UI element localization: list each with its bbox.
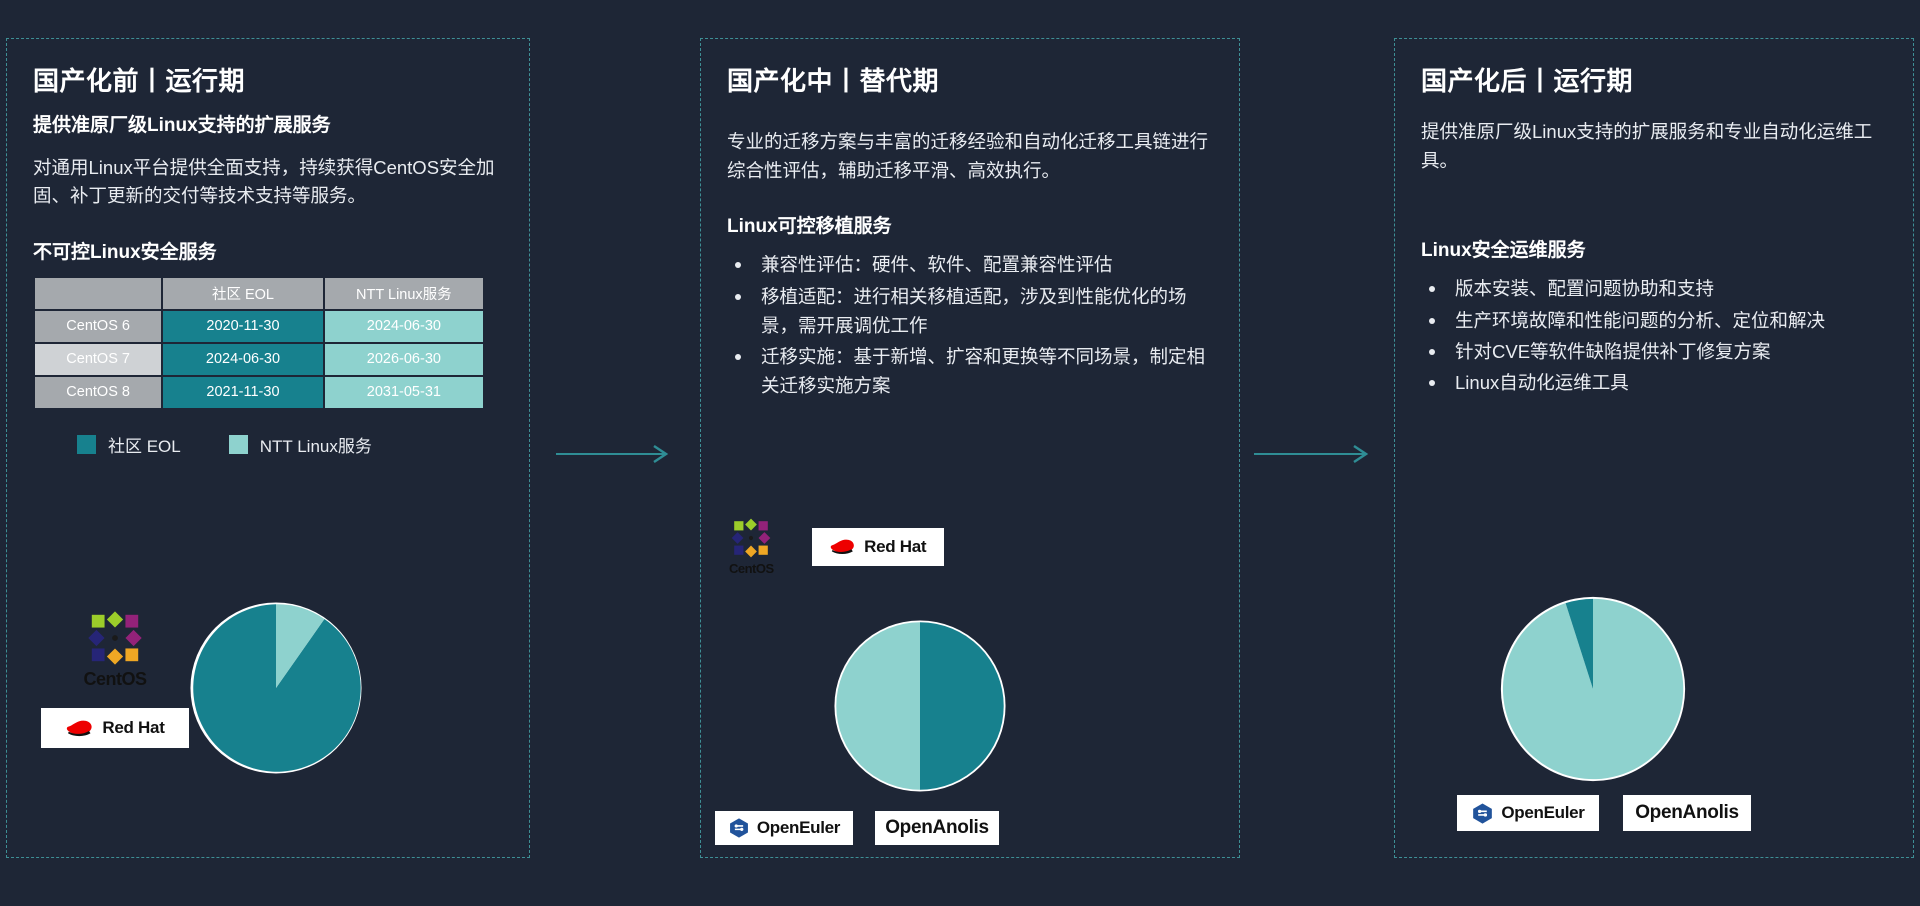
centos-mark-icon bbox=[730, 517, 772, 559]
list-item: 迁移实施：基于新增、扩容和更换等不同场景，制定相关迁移实施方案 bbox=[727, 342, 1213, 400]
table-cell-os: CentOS 6 bbox=[35, 311, 161, 342]
table-row: CentOS 7 2024-06-30 2026-06-30 bbox=[35, 344, 483, 375]
logo-group-after: OpenEuler OpenAnolis bbox=[1457, 795, 1751, 831]
pie-chart-after bbox=[1495, 591, 1691, 787]
openeuler-mark-icon bbox=[728, 817, 750, 839]
table-row: CentOS 6 2020-11-30 2024-06-30 bbox=[35, 311, 483, 342]
section-heading: 不可控Linux安全服务 bbox=[33, 237, 503, 264]
flow-arrow-1 bbox=[556, 442, 676, 466]
pie-slice-ntt bbox=[1503, 599, 1683, 779]
stage-panel-before: 国产化前丨运行期 提供准原厂级Linux支持的扩展服务 对通用Linux平台提供… bbox=[6, 38, 530, 858]
table-cell-ntt: 2026-06-30 bbox=[325, 344, 483, 375]
service-bullet-list: 版本安装、配置问题协助和支持 生产环境故障和性能问题的分析、定位和解决 针对CV… bbox=[1421, 274, 1887, 397]
legend-item-ntt: NTT Linux服务 bbox=[229, 432, 372, 457]
table-row: CentOS 8 2021-11-30 2031-05-31 bbox=[35, 377, 483, 408]
table-cell-os: CentOS 7 bbox=[35, 344, 161, 375]
openeuler-mark-icon bbox=[1471, 802, 1494, 825]
flow-arrow-2 bbox=[1254, 442, 1376, 466]
stage-panel-during: 国产化中丨替代期 专业的迁移方案与丰富的迁移经验和自动化迁移工具链进行综合性评估… bbox=[700, 38, 1240, 858]
table-header-eol: 社区 EOL bbox=[163, 278, 323, 309]
redhat-logo-label: Red Hat bbox=[102, 718, 164, 738]
table-cell-ntt: 2031-05-31 bbox=[325, 377, 483, 408]
centos-logo-label: CentOS bbox=[83, 669, 146, 690]
panel-description: 提供准原厂级Linux支持的扩展服务和专业自动化运维工具。 bbox=[1421, 118, 1887, 175]
table-header-row: 社区 EOL NTT Linux服务 bbox=[35, 278, 483, 309]
table-cell-eol: 2021-11-30 bbox=[163, 377, 323, 408]
openanolis-logo-label: OpenAnolis bbox=[885, 817, 989, 839]
pie-chart-before bbox=[185, 597, 367, 779]
centos-eol-table: 社区 EOL NTT Linux服务 CentOS 6 2020-11-30 2… bbox=[33, 276, 485, 410]
legend-label: 社区 EOL bbox=[108, 432, 181, 457]
panel-title: 国产化中丨替代期 bbox=[727, 61, 1213, 98]
list-item: Linux自动化运维工具 bbox=[1421, 368, 1887, 397]
stage-panel-after: 国产化后丨运行期 提供准原厂级Linux支持的扩展服务和专业自动化运维工具。 L… bbox=[1394, 38, 1914, 858]
openeuler-logo: OpenEuler bbox=[1457, 795, 1599, 831]
openeuler-logo-label: OpenEuler bbox=[1501, 803, 1584, 823]
list-item: 生产环境故障和性能问题的分析、定位和解决 bbox=[1421, 306, 1887, 335]
openanolis-logo: OpenAnolis bbox=[1623, 795, 1751, 831]
legend-swatch-icon bbox=[77, 435, 96, 454]
redhat-fedora-icon bbox=[829, 537, 857, 556]
list-item: 移植适配：进行相关移植适配，涉及到性能优化的场景，需开展调优工作 bbox=[727, 282, 1213, 340]
legend-item-eol: 社区 EOL bbox=[77, 432, 181, 457]
panel-title: 国产化后丨运行期 bbox=[1421, 61, 1887, 98]
redhat-logo: Red Hat bbox=[41, 708, 189, 748]
openeuler-logo: OpenEuler bbox=[715, 811, 853, 845]
logo-group-during-bottom: OpenEuler OpenAnolis bbox=[715, 811, 999, 845]
section-heading: Linux安全运维服务 bbox=[1421, 235, 1887, 262]
legend-swatch-icon bbox=[229, 435, 248, 454]
redhat-logo-label: Red Hat bbox=[864, 537, 926, 557]
table-cell-ntt: 2024-06-30 bbox=[325, 311, 483, 342]
pie-slice-eol bbox=[920, 622, 1004, 789]
pie-chart-during bbox=[829, 615, 1011, 797]
centos-logo: CentOS bbox=[729, 517, 774, 576]
list-item: 版本安装、配置问题协助和支持 bbox=[1421, 274, 1887, 303]
panel-subtitle: 提供准原厂级Linux支持的扩展服务 bbox=[33, 112, 503, 140]
chart-legend: 社区 EOL NTT Linux服务 bbox=[33, 432, 503, 457]
list-item: 针对CVE等软件缺陷提供补丁修复方案 bbox=[1421, 337, 1887, 366]
centos-logo-label: CentOS bbox=[729, 561, 774, 576]
panel-title: 国产化前丨运行期 bbox=[33, 61, 503, 98]
legend-label: NTT Linux服务 bbox=[260, 432, 372, 457]
panel-description: 对通用Linux平台提供全面支持，持续获得CentOS安全加固、补丁更新的交付等… bbox=[33, 154, 503, 211]
service-bullet-list: 兼容性评估：硬件、软件、配置兼容性评估 移植适配：进行相关移植适配，涉及到性能优… bbox=[727, 250, 1213, 400]
logo-group-during-top: CentOS Red Hat bbox=[729, 517, 944, 576]
centos-logo: CentOS bbox=[41, 609, 189, 690]
openanolis-logo-label: OpenAnolis bbox=[1635, 802, 1739, 824]
table-header-blank bbox=[35, 278, 161, 309]
slide-canvas: 国产化前丨运行期 提供准原厂级Linux支持的扩展服务 对通用Linux平台提供… bbox=[0, 0, 1920, 906]
logo-group-before: CentOS Red Hat bbox=[41, 609, 189, 748]
section-heading: Linux可控移植服务 bbox=[727, 211, 1213, 238]
centos-mark-icon bbox=[86, 609, 144, 667]
table-header-ntt: NTT Linux服务 bbox=[325, 278, 483, 309]
panel-description: 专业的迁移方案与丰富的迁移经验和自动化迁移工具链进行综合性评估，辅助迁移平滑、高… bbox=[727, 128, 1213, 185]
pie-slice-ntt bbox=[836, 622, 920, 789]
redhat-logo: Red Hat bbox=[812, 528, 944, 566]
table-cell-eol: 2020-11-30 bbox=[163, 311, 323, 342]
openanolis-logo: OpenAnolis bbox=[875, 811, 999, 845]
table-cell-os: CentOS 8 bbox=[35, 377, 161, 408]
table-cell-eol: 2024-06-30 bbox=[163, 344, 323, 375]
list-item: 兼容性评估：硬件、软件、配置兼容性评估 bbox=[727, 250, 1213, 279]
openeuler-logo-label: OpenEuler bbox=[757, 818, 840, 838]
redhat-fedora-icon bbox=[65, 718, 95, 738]
